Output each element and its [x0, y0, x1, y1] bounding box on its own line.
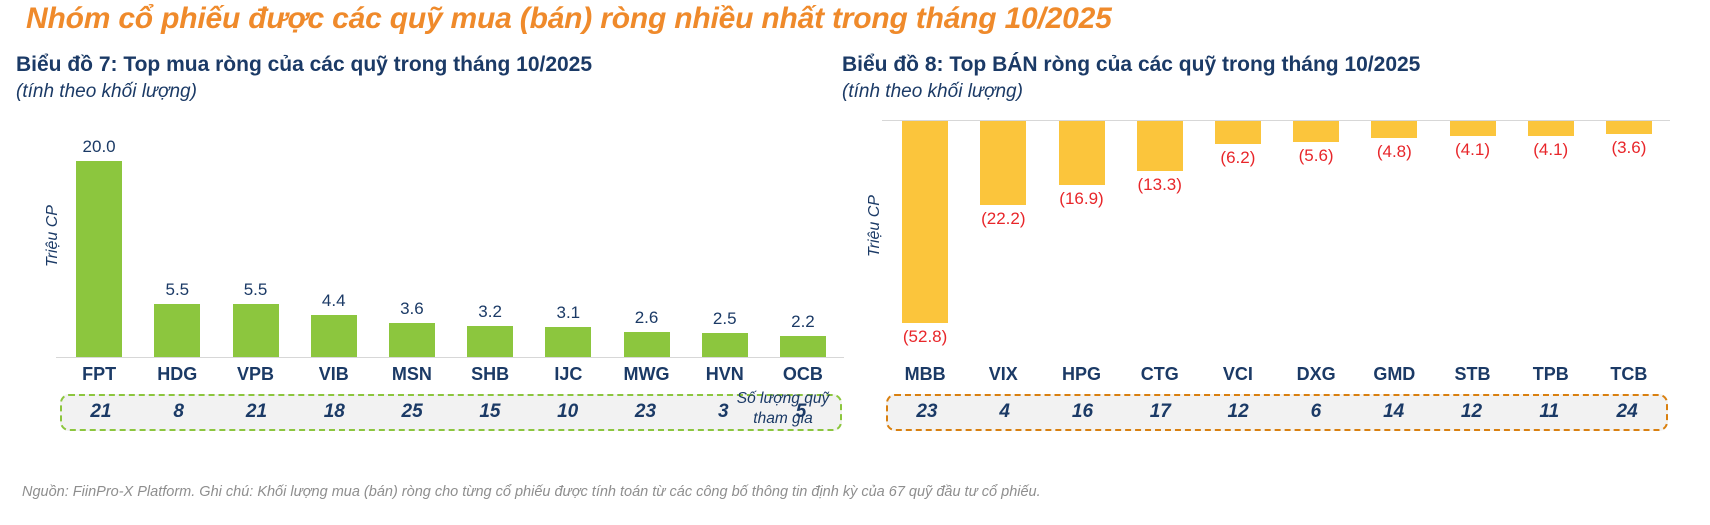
bar-value-label: (4.8) — [1377, 142, 1412, 162]
bar — [467, 326, 513, 358]
bar — [1450, 120, 1496, 136]
fund-count-value: 17 — [1121, 401, 1199, 423]
x-axis-tick-label: SHB — [451, 364, 529, 385]
bar-column: (4.1) — [1512, 120, 1590, 358]
fund-count-value: 21 — [218, 401, 296, 423]
fund-count-legend: Số lượng quỹ tham gia — [724, 389, 842, 429]
bar-column: 3.2 — [451, 113, 529, 358]
fund-count-value: 23 — [888, 401, 966, 423]
bar-value-label: (3.6) — [1611, 138, 1646, 158]
x-axis-tick-label: MSN — [373, 364, 451, 385]
chart-panel-net-buy: Biểu đồ 7: Top mua ròng của các quỹ tron… — [16, 52, 846, 452]
x-axis-tick-label: HVN — [686, 364, 764, 385]
bar — [1137, 120, 1183, 171]
fund-count-value: 11 — [1510, 401, 1588, 423]
x-axis-categories-net-buy: FPTHDGVPBVIBMSNSHBIJCMWGHVNOCB — [60, 364, 842, 385]
chart-panel-net-sell: Biểu đồ 8: Top BÁN ròng của các quỹ tron… — [842, 52, 1672, 452]
fund-count-value: 21 — [62, 401, 140, 423]
bar-column: (4.8) — [1355, 120, 1433, 358]
fund-count-value: 14 — [1355, 401, 1433, 423]
x-axis-tick-label: HPG — [1042, 364, 1120, 385]
fund-count-box-net-sell: 234161712614121124 — [886, 394, 1668, 431]
bar-value-label: 3.6 — [400, 299, 424, 319]
x-axis-baseline-net-sell — [882, 120, 1670, 121]
bar-column: (3.6) — [1590, 120, 1668, 358]
bar-column: (4.1) — [1433, 120, 1511, 358]
bar-column: (5.6) — [1277, 120, 1355, 358]
bar-value-label: 20.0 — [83, 137, 116, 157]
plot-area-net-sell: Triệu CP (52.8)(22.2)(16.9)(13.3)(6.2)(5… — [842, 113, 1672, 358]
x-axis-tick-label: DXG — [1277, 364, 1355, 385]
bar — [1215, 120, 1261, 144]
bar-value-label: (5.6) — [1299, 146, 1334, 166]
bar — [702, 333, 748, 358]
bar — [624, 332, 670, 358]
bar — [1371, 120, 1417, 138]
bar-value-label: 2.6 — [635, 308, 659, 328]
bar-column: 20.0 — [60, 113, 138, 358]
x-axis-categories-net-sell: MBBVIXHPGCTGVCIDXGGMDSTBTPBTCB — [886, 364, 1668, 385]
fund-count-value: 8 — [140, 401, 218, 423]
chart-title-net-sell: Biểu đồ 8: Top BÁN ròng của các quỹ tron… — [842, 52, 1672, 78]
bar — [902, 120, 948, 323]
bar — [980, 120, 1026, 205]
x-axis-tick-label: VPB — [216, 364, 294, 385]
bar — [780, 336, 826, 358]
x-axis-tick-label: VIX — [964, 364, 1042, 385]
fund-count-value: 23 — [607, 401, 685, 423]
bar — [1059, 120, 1105, 185]
fund-count-legend-line2: tham gia — [724, 409, 842, 429]
chart-subtitle-net-buy: (tính theo khối lượng) — [16, 79, 846, 105]
x-axis-tick-label: MBB — [886, 364, 964, 385]
page-title: Nhóm cổ phiếu được các quỹ mua (bán) ròn… — [26, 2, 1112, 36]
fund-count-value: 18 — [295, 401, 373, 423]
bar-value-label: (52.8) — [903, 327, 947, 347]
x-axis-tick-label: MWG — [607, 364, 685, 385]
bar-value-label: (13.3) — [1138, 175, 1182, 195]
bar — [389, 323, 435, 358]
bar-value-label: 5.5 — [165, 280, 189, 300]
chart-subtitle-net-sell: (tính theo khối lượng) — [842, 79, 1672, 105]
x-axis-tick-label: GMD — [1355, 364, 1433, 385]
bar-column: 2.6 — [607, 113, 685, 358]
bar-value-label: (16.9) — [1059, 189, 1103, 209]
bar — [76, 161, 122, 358]
bar-column: 5.5 — [138, 113, 216, 358]
bar-group-net-buy: 20.05.55.54.43.63.23.12.62.52.2 — [60, 113, 842, 358]
bar — [1606, 120, 1652, 134]
fund-count-value: 12 — [1199, 401, 1277, 423]
x-axis-tick-label: VIB — [295, 364, 373, 385]
bar-value-label: (4.1) — [1533, 140, 1568, 160]
bar-column: 2.5 — [686, 113, 764, 358]
source-note: Nguồn: FiinPro-X Platform. Ghi chú: Khối… — [22, 484, 1041, 500]
x-axis-tick-label: HDG — [138, 364, 216, 385]
x-axis-tick-label: TPB — [1512, 364, 1590, 385]
bar-column: 3.1 — [529, 113, 607, 358]
x-axis-tick-label: VCI — [1199, 364, 1277, 385]
fund-count-value: 25 — [373, 401, 451, 423]
bar-value-label: (6.2) — [1220, 148, 1255, 168]
bar — [1293, 120, 1339, 142]
x-axis-baseline-net-buy — [56, 357, 844, 358]
fund-count-value: 6 — [1277, 401, 1355, 423]
bar-value-label: 4.4 — [322, 291, 346, 311]
x-axis-tick-label: FPT — [60, 364, 138, 385]
bar — [311, 315, 357, 358]
bar-column: 5.5 — [216, 113, 294, 358]
y-axis-label-net-sell: Triệu CP — [866, 195, 884, 257]
bar-value-label: 3.2 — [478, 302, 502, 322]
bar-column: (13.3) — [1121, 120, 1199, 358]
bar — [233, 304, 279, 358]
bar — [545, 327, 591, 358]
bar-value-label: (22.2) — [981, 209, 1025, 229]
bar-value-label: 3.1 — [557, 303, 581, 323]
bar-group-net-sell: (52.8)(22.2)(16.9)(13.3)(6.2)(5.6)(4.8)(… — [886, 120, 1668, 358]
bar-column: 3.6 — [373, 113, 451, 358]
fund-count-value: 15 — [451, 401, 529, 423]
bar — [1528, 120, 1574, 136]
x-axis-tick-label: TCB — [1590, 364, 1668, 385]
plot-area-net-buy: Triệu CP 20.05.55.54.43.63.23.12.62.52.2 — [16, 113, 846, 358]
bar-column: 2.2 — [764, 113, 842, 358]
fund-count-value: 4 — [966, 401, 1044, 423]
x-axis-tick-label: CTG — [1121, 364, 1199, 385]
bar-column: (52.8) — [886, 120, 964, 358]
bar-value-label: (4.1) — [1455, 140, 1490, 160]
chart-title-net-buy: Biểu đồ 7: Top mua ròng của các quỹ tron… — [16, 52, 846, 78]
bar-column: (16.9) — [1042, 120, 1120, 358]
bar-value-label: 2.2 — [791, 312, 815, 332]
fund-count-value: 10 — [529, 401, 607, 423]
bar-column: (22.2) — [964, 120, 1042, 358]
fund-count-value: 16 — [1044, 401, 1122, 423]
x-axis-tick-label: STB — [1433, 364, 1511, 385]
fund-count-value: 24 — [1588, 401, 1666, 423]
bar-column: 4.4 — [295, 113, 373, 358]
fund-count-legend-line1: Số lượng quỹ — [724, 389, 842, 409]
x-axis-tick-label: IJC — [529, 364, 607, 385]
fund-count-value: 12 — [1433, 401, 1511, 423]
bar-column: (6.2) — [1199, 120, 1277, 358]
bar-value-label: 2.5 — [713, 309, 737, 329]
bar-value-label: 5.5 — [244, 280, 268, 300]
x-axis-tick-label: OCB — [764, 364, 842, 385]
bar — [154, 304, 200, 358]
